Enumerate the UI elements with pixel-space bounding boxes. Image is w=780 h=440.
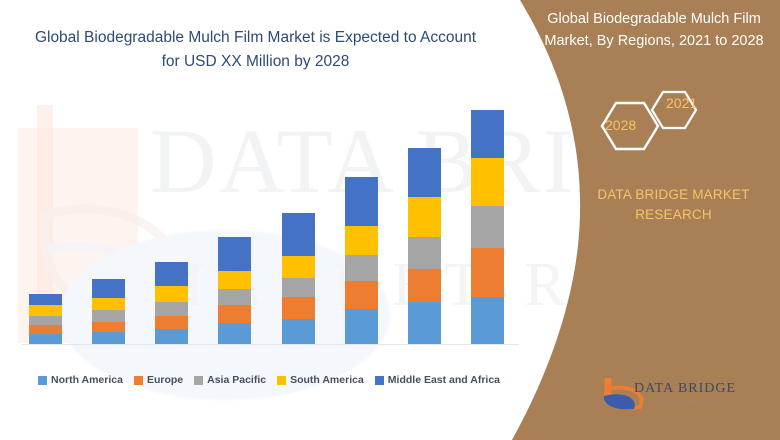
panel-title: Global Biodegradable Mulch Film Market, …: [533, 8, 775, 52]
hexagon-label-2021: 2021: [666, 95, 697, 111]
logo-subtext: MARKET RESEARCH: [635, 398, 723, 404]
hexagon-badges: 2028 2021: [586, 86, 736, 166]
hexagon-label-2028: 2028: [605, 117, 636, 133]
brand-name: DATA BRIDGE MARKET RESEARCH: [576, 185, 771, 225]
logo-wordmark: DATA BRIDGE: [634, 381, 736, 397]
infographic-canvas: DATA BRIDGE MARKET RESEARCH Global Biode…: [0, 0, 780, 440]
